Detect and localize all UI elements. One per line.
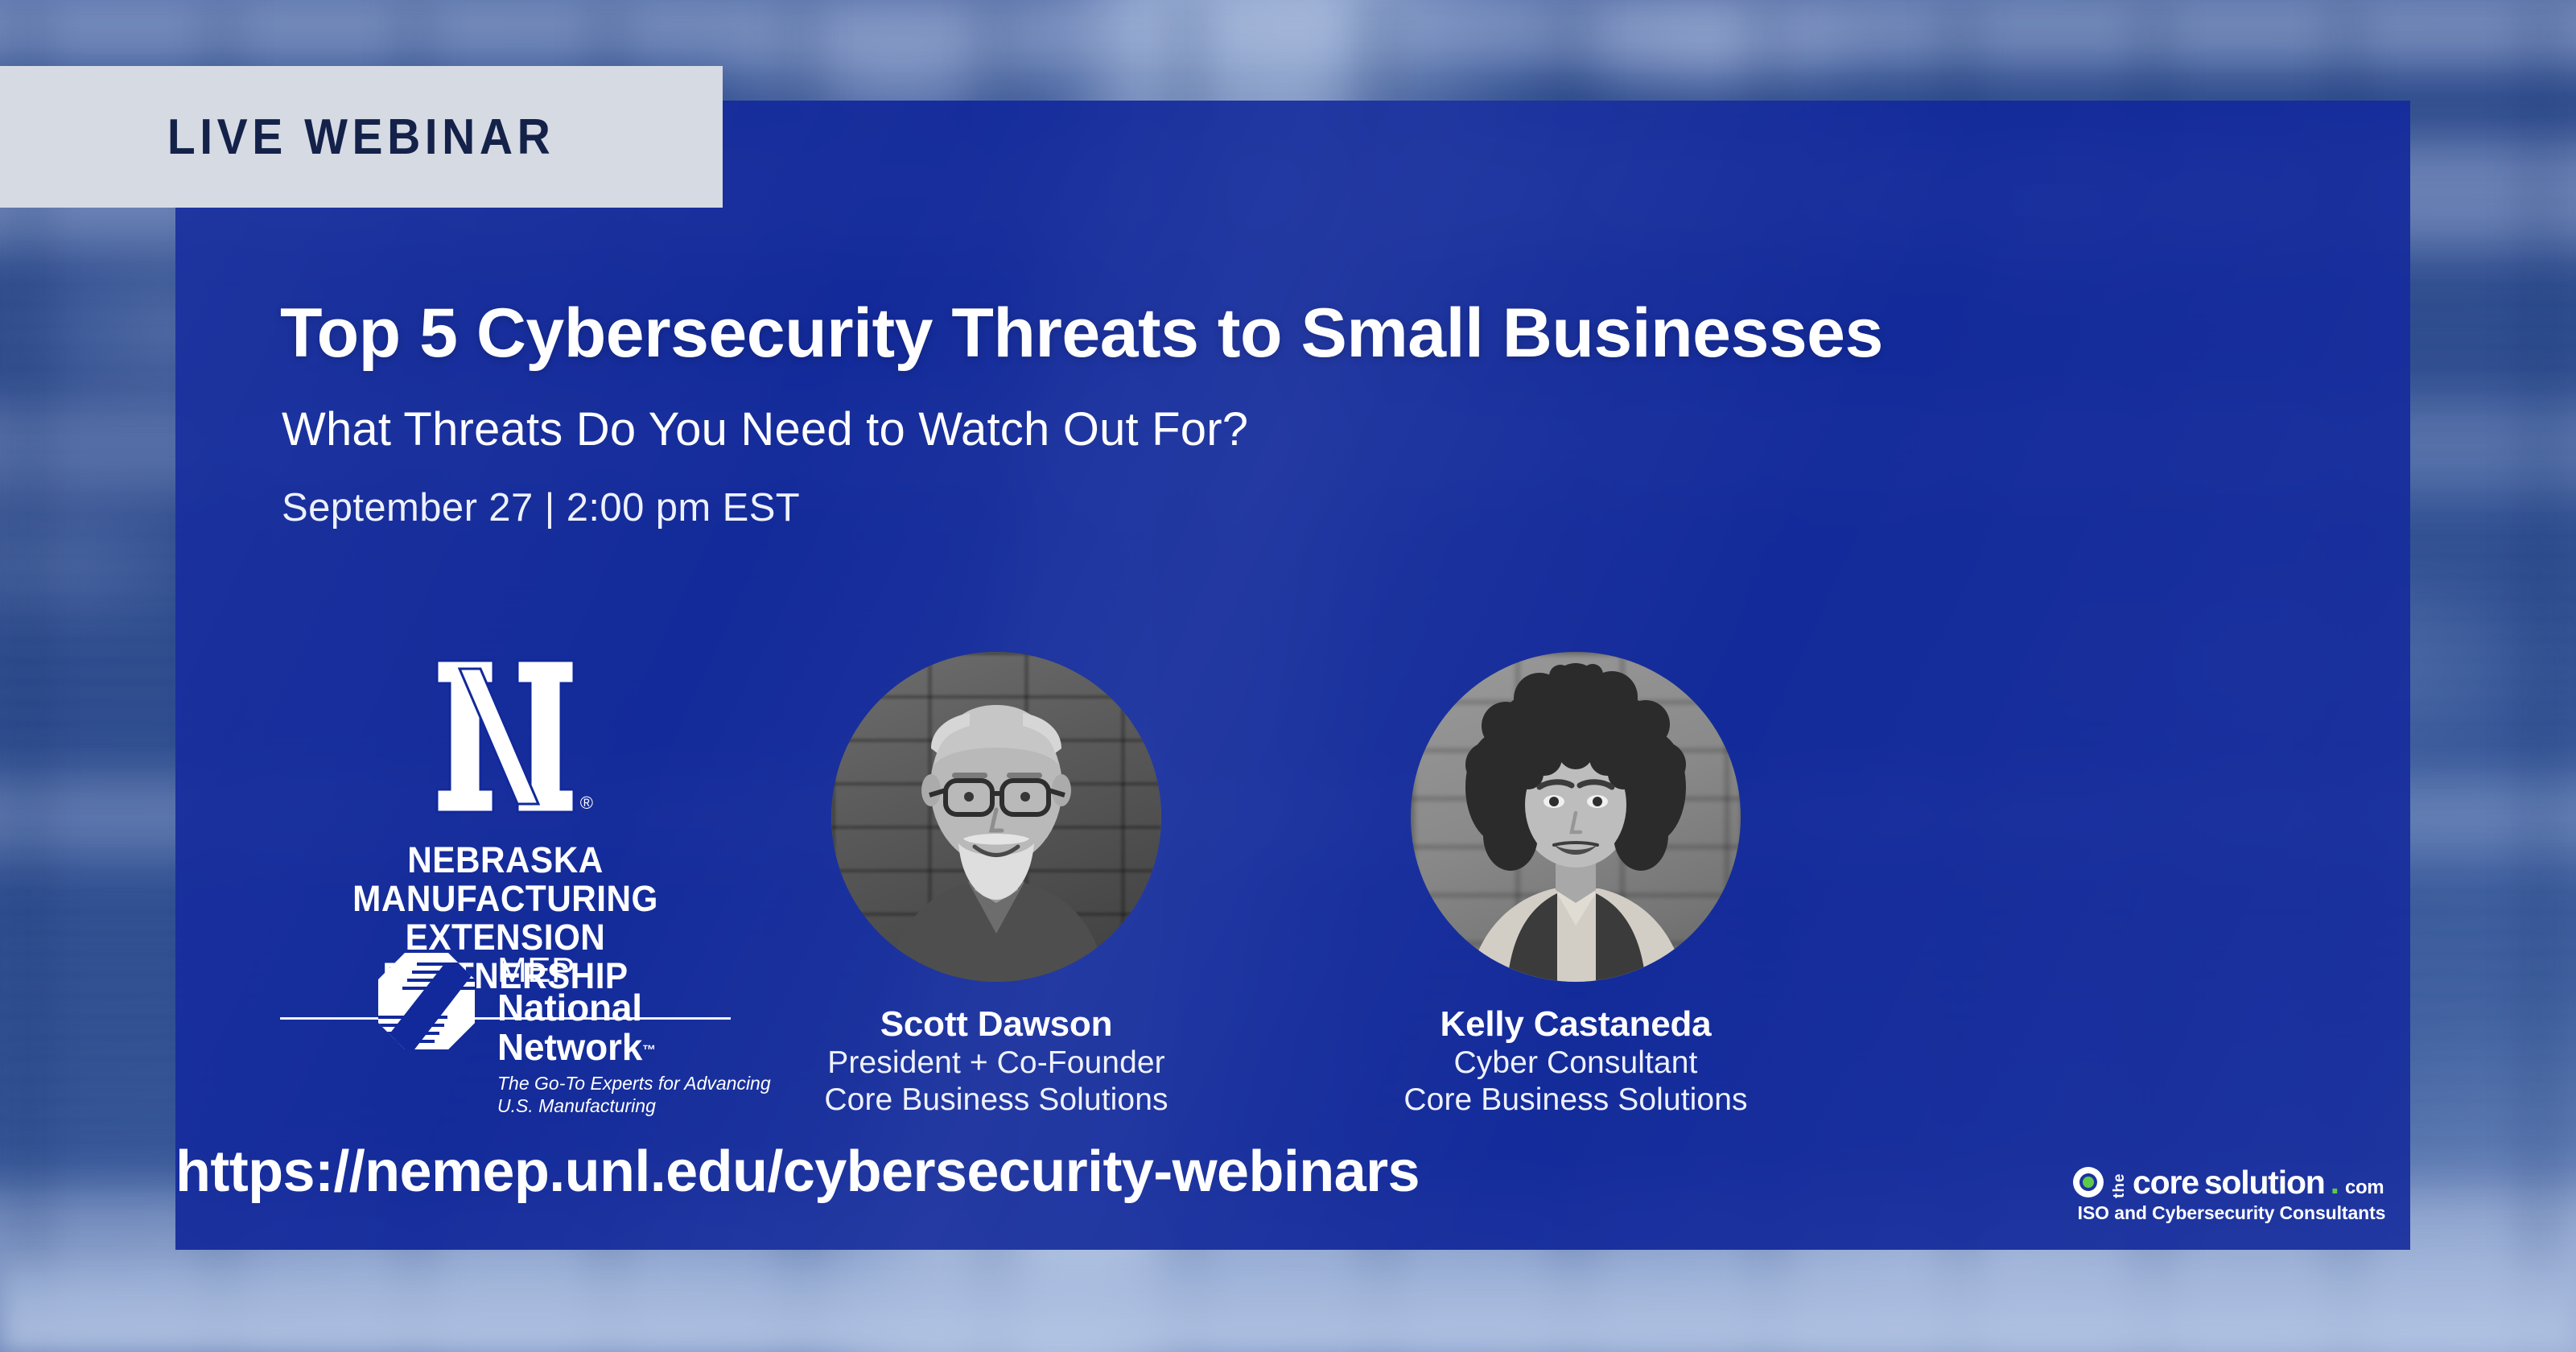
core-ring-icon — [2071, 1164, 2106, 1200]
speaker-name: Scott Dawson — [771, 1004, 1222, 1045]
live-webinar-banner: LIVE WEBINAR — [0, 66, 723, 208]
speaker-name: Kelly Castaneda — [1350, 1004, 1801, 1045]
webinar-promo-graphic: LIVE WEBINAR Top 5 Cybersecurity Threats… — [0, 0, 2576, 1352]
core-solution-tagline: ISO and Cybersecurity Consultants — [2071, 1202, 2393, 1224]
mep-national: National — [497, 988, 771, 1028]
mep-national-network-logo: MEP National Network™ The Go-To Experts … — [375, 950, 771, 1117]
speaker-card-kelly-castaneda: Kelly Castaneda Cyber Consultant Core Bu… — [1350, 652, 1801, 1119]
mep-tagline-line2: U.S. Manufacturing — [497, 1094, 771, 1117]
mep-tagline: The Go-To Experts for Advancing U.S. Man… — [497, 1072, 771, 1117]
core-solution-wordmark-row: the core solution . com — [2071, 1164, 2393, 1200]
registered-trademark-icon: ® — [580, 794, 593, 812]
core-the-label: the — [2112, 1166, 2127, 1198]
core-com-label: com — [2345, 1178, 2384, 1200]
page-title: Top 5 Cybersecurity Threats to Small Bus… — [280, 294, 1883, 373]
speaker-card-scott-dawson: Scott Dawson President + Co-Founder Core… — [771, 652, 1222, 1119]
live-webinar-label: LIVE WEBINAR — [167, 109, 554, 166]
mep-abbrev: MEP — [497, 953, 771, 988]
registration-url[interactable]: https://nemep.unl.edu/cybersecurity-webi… — [113, 1139, 2285, 1205]
speaker-org: Core Business Solutions — [1350, 1082, 1801, 1119]
core-word-core: core — [2133, 1166, 2199, 1199]
avatar — [831, 652, 1161, 982]
mep-tagline-line1: The Go-To Experts for Advancing — [497, 1072, 771, 1094]
speaker-org: Core Business Solutions — [771, 1082, 1222, 1119]
event-datetime: September 27 | 2:00 pm EST — [282, 485, 800, 530]
background-desk-strip — [0, 1239, 2576, 1352]
core-solution-logo: the core solution . com ISO and Cybersec… — [2071, 1164, 2393, 1224]
nebraska-n-icon: ® — [431, 656, 580, 817]
speaker-role: Cyber Consultant — [1350, 1045, 1801, 1082]
core-word-solution: solution — [2204, 1166, 2325, 1199]
portrait-figure-scott — [831, 652, 1161, 982]
core-green-dot: . — [2331, 1166, 2339, 1199]
speaker-role: President + Co-Founder — [771, 1045, 1222, 1082]
page-subtitle: What Threats Do You Need to Watch Out Fo… — [282, 402, 1248, 456]
portrait-figure-kelly — [1411, 652, 1741, 982]
mep-octagon-icon — [375, 950, 478, 1053]
panel-content: Top 5 Cybersecurity Threats to Small Bus… — [175, 101, 2410, 1250]
nebraska-mep-name-line1: NEBRASKA MANUFACTURING — [294, 841, 717, 918]
trademark-icon: ™ — [642, 1042, 656, 1057]
mep-network: Network — [497, 1028, 642, 1067]
mep-wordmark: MEP National Network™ The Go-To Experts … — [497, 950, 771, 1117]
avatar — [1411, 652, 1741, 982]
